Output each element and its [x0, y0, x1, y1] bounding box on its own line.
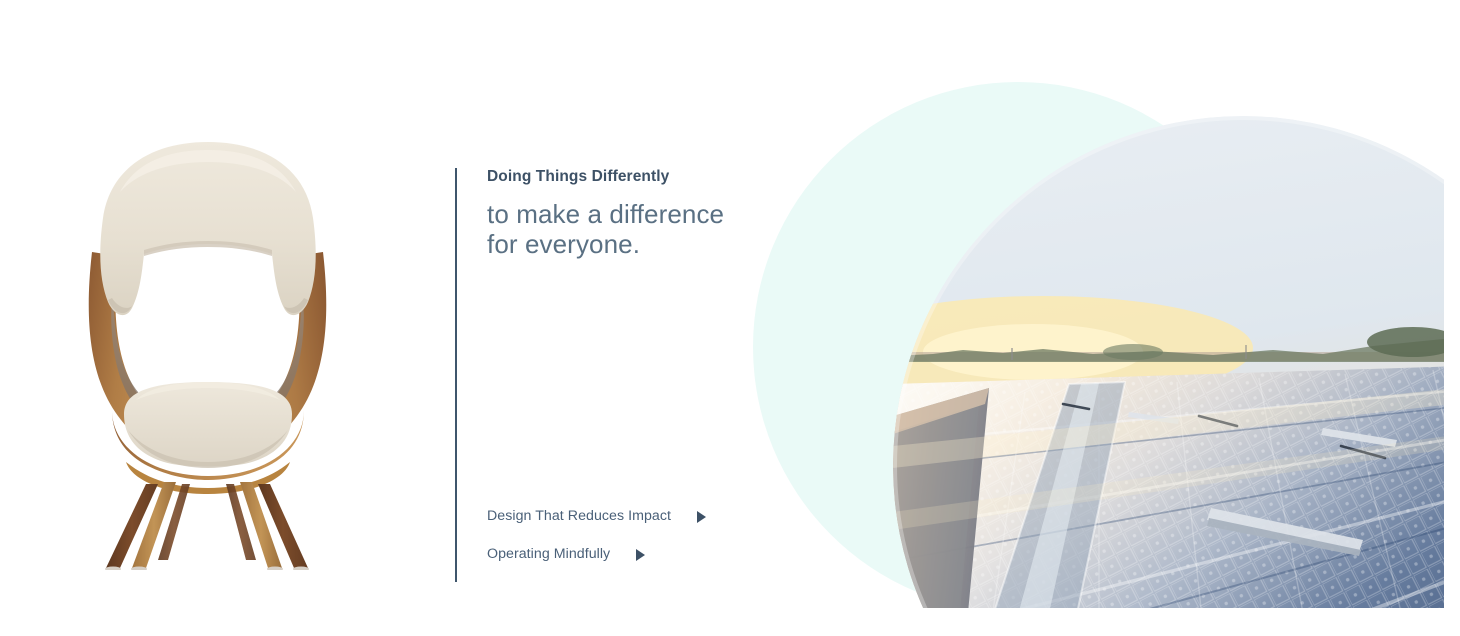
play-triangle-icon	[697, 511, 706, 523]
sustainability-media-zone	[745, 0, 1460, 636]
headline-block: Doing Things Differently to make a diffe…	[487, 168, 755, 260]
link-list: Design That Reduces Impact Operating Min…	[487, 508, 755, 563]
link-label: Operating Mindfully	[487, 546, 610, 563]
eyebrow-heading: Doing Things Differently	[487, 168, 755, 187]
photo-bottom-crop-mask	[745, 608, 1460, 636]
photo-right-crop-mask	[1444, 0, 1460, 636]
page-title: to make a difference for everyone.	[487, 199, 755, 260]
play-triangle-icon	[636, 549, 645, 561]
intro-text-column: Doing Things Differently to make a diffe…	[455, 168, 755, 582]
chair-image	[40, 132, 375, 570]
page-root: Doing Things Differently to make a diffe…	[0, 0, 1460, 636]
product-photo-panel	[0, 0, 440, 636]
vertical-divider	[455, 168, 457, 582]
link-label: Design That Reduces Impact	[487, 508, 671, 525]
link-design-that-reduces-impact[interactable]: Design That Reduces Impact	[487, 508, 755, 525]
link-operating-mindfully[interactable]: Operating Mindfully	[487, 546, 755, 563]
